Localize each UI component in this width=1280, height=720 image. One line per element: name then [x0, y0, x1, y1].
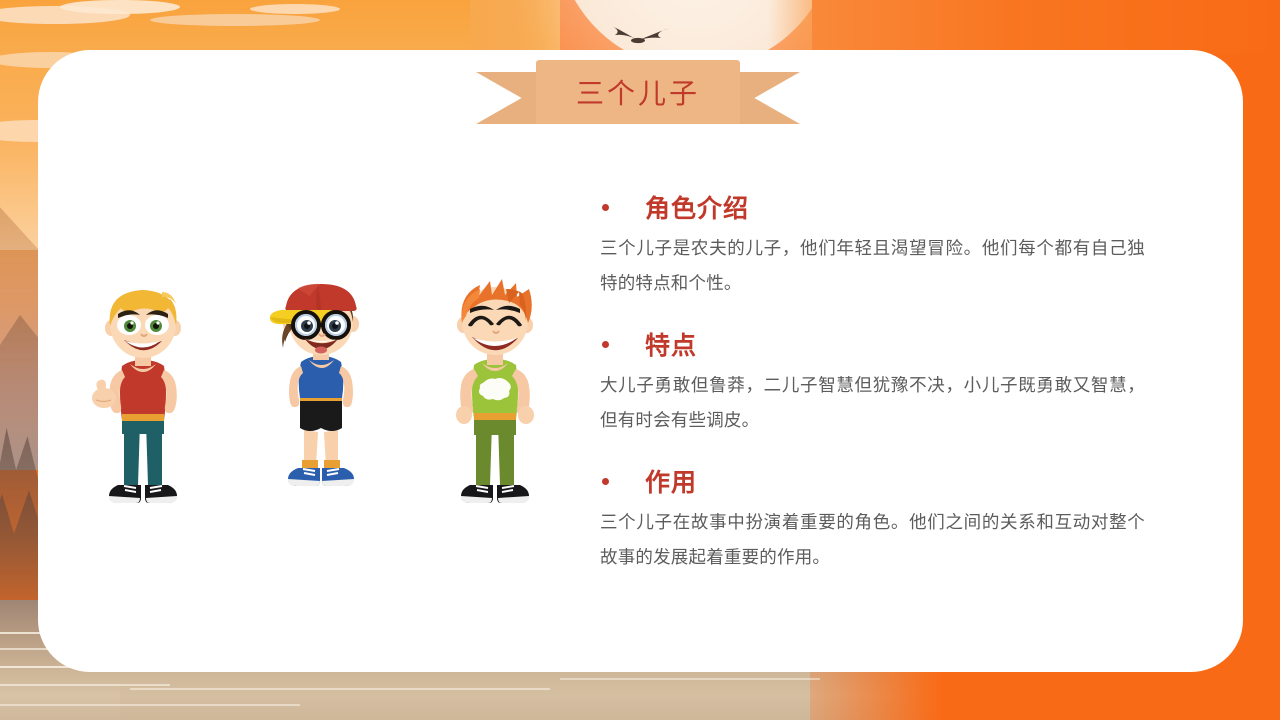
section-block: 角色介绍 三个儿子是农夫的儿子，他们年轻且渴望冒险。他们每个都有自己独特的特点和…: [600, 190, 1145, 301]
section-heading: 作用: [645, 463, 697, 499]
cloud-icon: [150, 14, 320, 26]
bullet-icon: [602, 341, 609, 348]
character-boy-blonde-eldest: [78, 280, 208, 530]
section-heading-row: 特点: [600, 327, 1145, 361]
bullet-icon: [602, 478, 609, 485]
bullet-icon: [602, 204, 609, 211]
section-heading-row: 角色介绍: [600, 190, 1145, 224]
section-body: 大儿子勇敢但鲁莽，二儿子智慧但犹豫不决，小儿子既勇敢又智慧，但有时会有些调皮。: [600, 368, 1145, 438]
section-body: 三个儿子在故事中扮演着重要的角色。他们之间的关系和互动对整个故事的发展起着重要的…: [600, 505, 1145, 575]
title-ribbon: 三个儿子: [476, 60, 800, 130]
background-sky-band-right: [812, 0, 1280, 54]
water-streak: [560, 678, 820, 680]
bird-icon: [604, 22, 674, 50]
character-boy-ginger-youngest: [428, 275, 563, 530]
cloud-icon: [60, 0, 180, 14]
page-title: 三个儿子: [536, 60, 740, 124]
section-heading: 角色介绍: [645, 189, 749, 225]
slide-root: 三个儿子: [0, 0, 1280, 720]
character-boy-cap-glasses-middle: [256, 280, 386, 530]
section-heading-row: 作用: [600, 464, 1145, 498]
section-block: 作用 三个儿子在故事中扮演着重要的角色。他们之间的关系和互动对整个故事的发展起着…: [600, 464, 1145, 575]
cloud-icon: [250, 4, 340, 14]
section-block: 特点 大儿子勇敢但鲁莽，二儿子智慧但犹豫不决，小儿子既勇敢又智慧，但有时会有些调…: [600, 327, 1145, 438]
water-streak: [0, 684, 170, 686]
water-streak: [0, 704, 300, 706]
content-sections: 角色介绍 三个儿子是农夫的儿子，他们年轻且渴望冒险。他们每个都有自己独特的特点和…: [600, 190, 1145, 575]
section-heading: 特点: [645, 326, 697, 362]
section-body: 三个儿子是农夫的儿子，他们年轻且渴望冒险。他们每个都有自己独特的特点和个性。: [600, 231, 1145, 301]
character-illustration-group: [60, 280, 580, 530]
water-streak: [130, 688, 550, 690]
